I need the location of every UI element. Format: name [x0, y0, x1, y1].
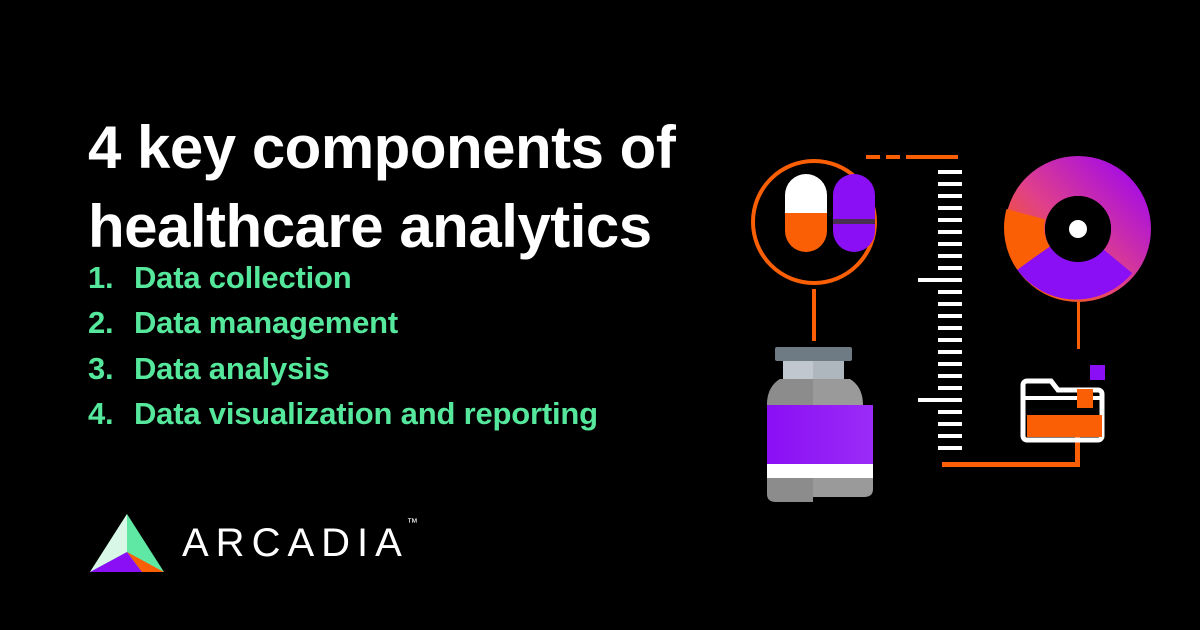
- ruler-tick: [938, 170, 962, 174]
- ruler-tick: [938, 362, 962, 366]
- page-title: 4 key components of healthcare analytics: [88, 108, 728, 266]
- ruler-tick: [938, 194, 962, 198]
- measurement-ruler: [918, 170, 962, 450]
- list-item-label: Data visualization and reporting: [134, 391, 728, 436]
- connector-dash: [866, 155, 880, 159]
- connector-bottom-riser: [1075, 432, 1080, 467]
- list-item: 2. Data management: [88, 300, 728, 345]
- ruler-tick: [938, 374, 962, 378]
- ruler-tick: [938, 434, 962, 438]
- capsule-purple-icon: [833, 174, 875, 252]
- ruler-tick: [938, 350, 962, 354]
- medicine-vial-icon: [767, 347, 873, 502]
- ruler-tick: [938, 254, 962, 258]
- list-item: 4. Data visualization and reporting: [88, 391, 728, 436]
- list-item-number: 1.: [88, 255, 134, 300]
- list-item: 3. Data analysis: [88, 346, 728, 391]
- ruler-tick: [938, 266, 962, 270]
- list-item: 1. Data collection: [88, 255, 728, 300]
- ruler-tick: [938, 230, 962, 234]
- list-item-label: Data management: [134, 300, 728, 345]
- ruler-tick: [938, 290, 962, 294]
- ruler-tick: [938, 422, 962, 426]
- pill-capsules-circle: [753, 161, 875, 283]
- ruler-tick: [938, 446, 962, 450]
- ruler-tick: [938, 206, 962, 210]
- arcadia-wordmark: ARCADIA™: [182, 523, 420, 563]
- healthcare-analytics-illustration: [720, 0, 1200, 630]
- components-list: 1. Data collection 2. Data management 3.…: [88, 255, 728, 436]
- vial-neck-shade: [783, 361, 813, 379]
- connector-capsule-to-vial: [812, 289, 816, 341]
- ruler-tick: [938, 182, 962, 186]
- ruler-tick: [938, 242, 962, 246]
- ruler-tick: [938, 338, 962, 342]
- folder-body-fill: [1027, 415, 1102, 437]
- trademark-symbol: ™: [407, 517, 418, 529]
- donut-center-dot: [1069, 220, 1087, 238]
- ruler-tick-major: [918, 278, 962, 282]
- vial-cap: [775, 347, 852, 361]
- vial-base-shade: [767, 478, 813, 502]
- arcadia-logo: ARCADIA™: [88, 512, 420, 574]
- list-item-number: 3.: [88, 346, 134, 391]
- poster-canvas: 4 key components of healthcare analytics…: [0, 0, 1200, 630]
- ruler-tick: [938, 314, 962, 318]
- ruler-tick: [938, 386, 962, 390]
- list-item-label: Data collection: [134, 255, 728, 300]
- vial-label-band: [767, 464, 873, 478]
- arcadia-triangle-mark-icon: [88, 512, 166, 574]
- connector-top-bar: [906, 155, 958, 159]
- capsule-white-orange-icon: [785, 174, 827, 252]
- folder-tab-fill: [1077, 389, 1093, 408]
- folder-icon: [1023, 365, 1105, 440]
- wordmark-text: ARCADIA: [182, 521, 409, 565]
- list-item-number: 4.: [88, 391, 134, 436]
- ruler-tick: [938, 326, 962, 330]
- folder-purple-badge: [1090, 365, 1105, 380]
- donut-segment-orange: [1024, 214, 1033, 258]
- ruler-tick: [938, 302, 962, 306]
- list-item-label: Data analysis: [134, 346, 728, 391]
- connector-dash: [886, 155, 900, 159]
- ruler-tick: [938, 410, 962, 414]
- ruler-tick: [938, 218, 962, 222]
- list-item-number: 2.: [88, 300, 134, 345]
- donut-chart: [1024, 176, 1131, 282]
- vial-liquid: [767, 405, 873, 464]
- ruler-tick-major: [918, 398, 962, 402]
- connector-bottom-bar: [942, 462, 1080, 467]
